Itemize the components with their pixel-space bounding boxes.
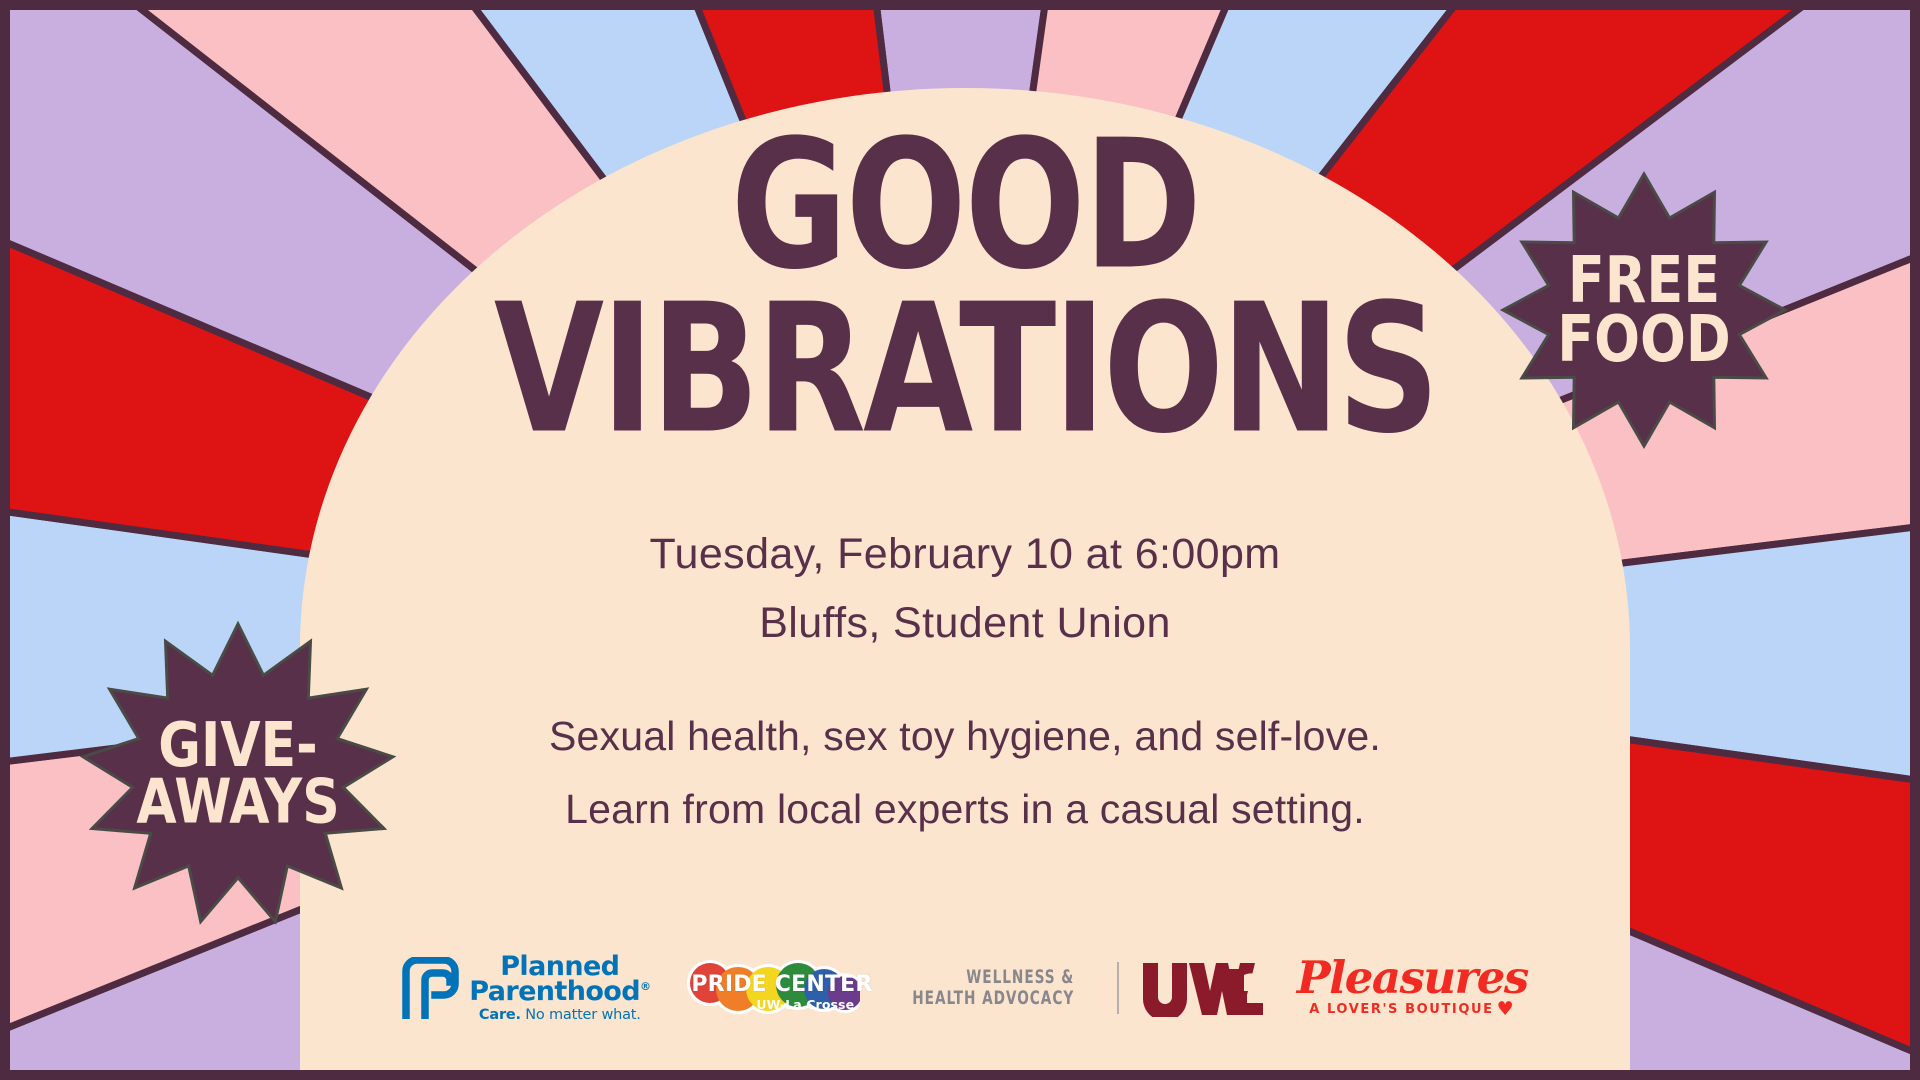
wellness-line2: HEALTH ADVOCACY	[913, 988, 1075, 1009]
pleasures-tagline-row: A LOVER'S BOUTIQUE ♥	[1309, 1000, 1515, 1019]
logo-pride-center: PRIDE CENTER UW-La Crosse	[682, 957, 860, 1019]
event-description: Sexual health, sex toy hygiene, and self…	[549, 716, 1381, 830]
planned-parenthood-icon	[402, 957, 460, 1019]
pleasures-tagline: A LOVER'S BOUTIQUE	[1309, 1002, 1493, 1017]
pride-center-label: PRIDE CENTER	[691, 972, 872, 997]
pp-tagline: Care. No matter what.	[469, 1009, 650, 1022]
pride-center-sublabel: UW-La Crosse	[756, 997, 854, 1012]
logo-divider	[1117, 962, 1119, 1014]
title-line-vibrations: VIBRATIONS	[494, 294, 1437, 447]
planned-parenthood-wordmark: Planned Parenthood® Care. No matter what…	[469, 954, 650, 1022]
badge-giveaways-label: GIVE- AWAYS	[78, 719, 398, 832]
page-title: GOOD VIBRATIONS	[512, 130, 1419, 412]
badge-free-food: FREE FOOD	[1499, 170, 1789, 450]
badge-giveaways: GIVE- AWAYS	[78, 620, 398, 930]
logo-uwl	[1141, 959, 1265, 1017]
poster-content: GOOD VIBRATIONS Tuesday, February 10 at …	[300, 88, 1630, 1080]
event-details: Tuesday, February 10 at 6:00pm Bluffs, S…	[649, 530, 1280, 648]
title-line-good: GOOD	[494, 130, 1437, 283]
event-datetime: Tuesday, February 10 at 6:00pm	[649, 530, 1280, 579]
event-location: Bluffs, Student Union	[649, 599, 1280, 648]
logo-wellness-health-advocacy: WELLNESS & HEALTH ADVOCACY	[913, 967, 1075, 1010]
wellness-line1: WELLNESS &	[967, 967, 1075, 988]
sponsor-logo-row: Planned Parenthood® Care. No matter what…	[300, 954, 1630, 1022]
logo-planned-parenthood: Planned Parenthood® Care. No matter what…	[402, 954, 650, 1022]
badge-free-food-label: FREE FOOD	[1499, 251, 1789, 368]
logo-pleasures: Pleasures A LOVER'S BOUTIQUE ♥	[1297, 957, 1528, 1019]
pp-line2: Parenthood®	[469, 979, 650, 1004]
description-line-1: Sexual health, sex toy hygiene, and self…	[549, 716, 1381, 757]
poster-canvas: GOOD VIBRATIONS Tuesday, February 10 at …	[0, 0, 1920, 1080]
heart-icon: ♥	[1497, 1000, 1516, 1019]
description-line-2: Learn from local experts in a casual set…	[549, 789, 1381, 830]
pleasures-wordmark: Pleasures	[1297, 957, 1528, 998]
